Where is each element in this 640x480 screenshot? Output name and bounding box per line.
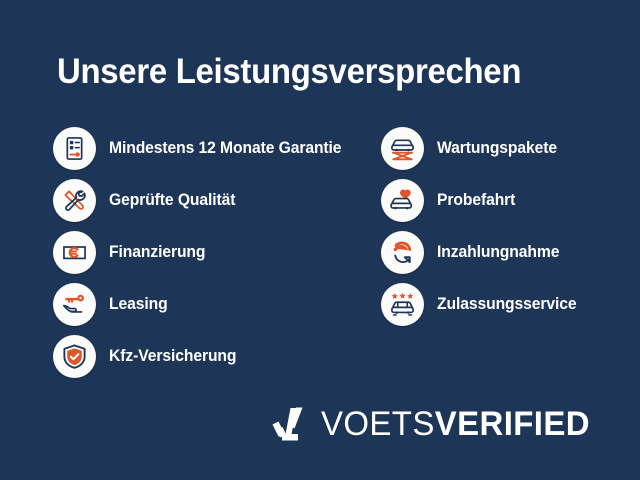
promo-banner: Unsere Leistungsversprechen Mindestens 1… <box>0 0 640 480</box>
feature-item-inzahlungnahme: Inzahlungnahme <box>381 230 584 274</box>
feature-list-left: Mindestens 12 Monate Garantie Geprüfte Q… <box>53 126 354 386</box>
logo-word-verified: VERIFIED <box>435 405 590 443</box>
brand-logo: VOETSVERIFIED <box>272 404 598 444</box>
car-heart-icon <box>381 179 424 222</box>
euro-banknote-icon <box>53 231 96 274</box>
exchange-arrows-icon <box>381 231 424 274</box>
car-stars-icon <box>381 283 424 326</box>
feature-item-finanzierung: Finanzierung <box>53 230 354 274</box>
feature-label: Geprüfte Qualität <box>109 191 235 210</box>
feature-label: Leasing <box>109 295 168 314</box>
feature-item-probefahrt: Probefahrt <box>381 178 584 222</box>
feature-label: Wartungspakete <box>437 139 557 158</box>
feature-item-qualitaet: Geprüfte Qualität <box>53 178 354 222</box>
logo-wordmark: VOETSVERIFIED <box>321 407 590 441</box>
wrench-screwdriver-icon <box>53 179 96 222</box>
feature-label: Finanzierung <box>109 243 205 262</box>
feature-label: Kfz-Versicherung <box>109 347 236 366</box>
feature-item-garantie: Mindestens 12 Monate Garantie <box>53 126 354 170</box>
car-lift-icon <box>381 127 424 170</box>
hand-key-icon <box>53 283 96 326</box>
feature-item-wartungspakete: Wartungspakete <box>381 126 584 170</box>
feature-label: Mindestens 12 Monate Garantie <box>109 139 341 158</box>
feature-list-right: Wartungspakete Probefahrt <box>381 126 584 334</box>
feature-label: Inzahlungnahme <box>437 243 559 262</box>
logo-word-voets: VOETS <box>321 405 435 443</box>
feature-label: Zulassungsservice <box>437 295 577 314</box>
voets-check-mark-icon <box>272 404 308 444</box>
feature-item-leasing: Leasing <box>53 282 354 326</box>
feature-item-versicherung: Kfz-Versicherung <box>53 334 354 378</box>
certificate-document-icon <box>53 127 96 170</box>
shield-check-icon <box>53 335 96 378</box>
feature-item-zulassungsservice: Zulassungsservice <box>381 282 584 326</box>
feature-label: Probefahrt <box>437 191 515 210</box>
page-title: Unsere Leistungsversprechen <box>57 52 521 92</box>
